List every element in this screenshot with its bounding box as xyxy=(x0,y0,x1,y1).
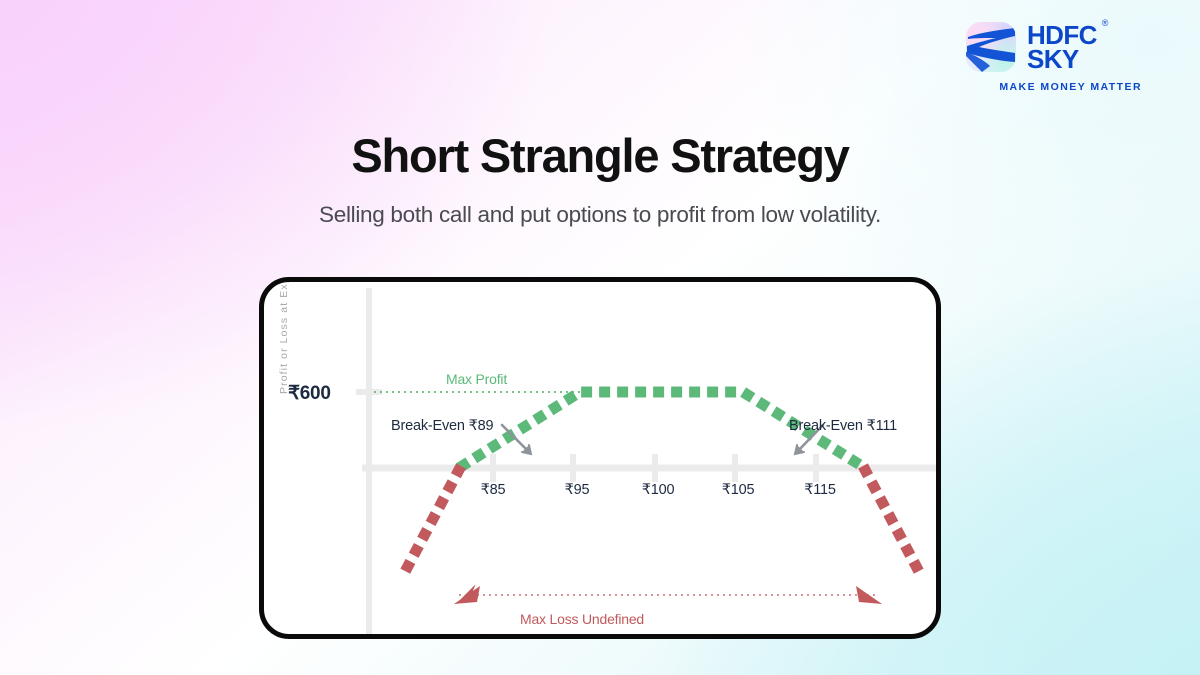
payoff-chart-svg xyxy=(264,282,936,634)
y-tick-label-600: ₹600 xyxy=(288,382,331,405)
loss-arrowhead-right-tri-icon xyxy=(856,586,882,604)
brand-row: HDFC® SKY xyxy=(966,22,1142,72)
brand-wordmark: HDFC® SKY xyxy=(1027,23,1097,71)
loss-payoff-line-right xyxy=(863,465,920,575)
max-loss-annotation: Max Loss Undefined xyxy=(520,611,644,627)
brand-line-1-text: HDFC xyxy=(1027,20,1097,50)
hdfc-sky-logo-mark-icon xyxy=(966,22,1016,72)
break-even-left-annotation: Break-Even ₹89 xyxy=(391,418,493,434)
payoff-chart-card: Profit or Loss at Expiration ₹600 ₹85 ₹9… xyxy=(259,277,941,639)
loss-arrowhead-left-tri-icon xyxy=(454,586,480,604)
x-tick-label-95: ₹95 xyxy=(565,482,590,498)
break-even-right-annotation: Break-Even ₹111 xyxy=(789,418,897,434)
payoff-chart: Profit or Loss at Expiration ₹600 ₹85 ₹9… xyxy=(264,282,936,634)
page-subtitle: Selling both call and put options to pro… xyxy=(300,200,900,230)
loss-payoff-line-left xyxy=(404,465,461,575)
brand-tagline: MAKE MONEY MATTER xyxy=(966,81,1142,93)
registered-mark-icon: ® xyxy=(1102,19,1108,27)
x-tick-label-85: ₹85 xyxy=(481,482,506,498)
y-axis-title: Profit or Loss at Expiration xyxy=(278,282,290,394)
page-title: Short Strangle Strategy xyxy=(0,128,1200,183)
x-tick-label-105: ₹105 xyxy=(722,482,755,498)
brand-logo: HDFC® SKY MAKE MONEY MATTER xyxy=(966,22,1142,93)
max-profit-annotation: Max Profit xyxy=(446,371,507,387)
x-tick-label-100: ₹100 xyxy=(642,482,675,498)
x-tick-label-115: ₹115 xyxy=(804,482,836,498)
brand-line-2: SKY xyxy=(1027,47,1097,71)
brand-line-1: HDFC® xyxy=(1027,23,1097,47)
